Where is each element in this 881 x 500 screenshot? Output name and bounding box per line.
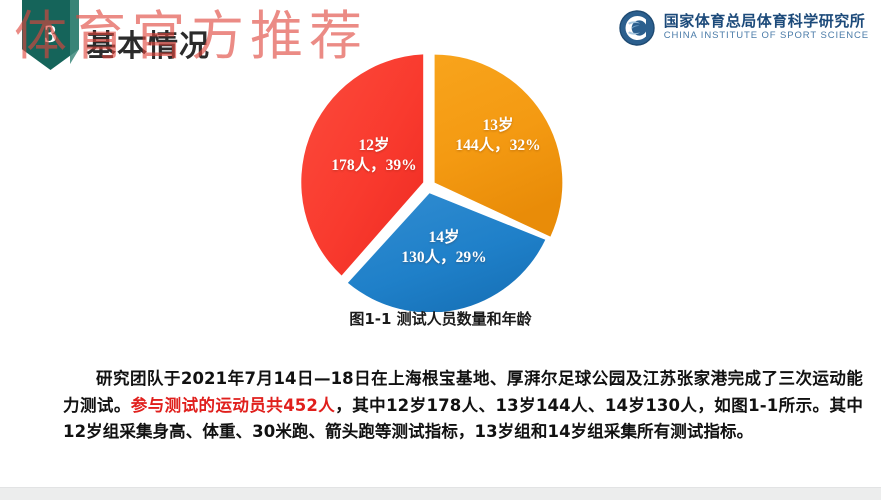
body-text-highlight: 参与测试的运动员共452人 xyxy=(131,396,336,415)
slide-canvas: 3 基本情况 体育官方推荐 国家体育总局体育科学研究所 CHINA INSTIT… xyxy=(0,0,881,500)
organization-name-cn: 国家体育总局体育科学研究所 xyxy=(664,13,869,30)
footer-band xyxy=(0,488,881,500)
figure-caption: 图1-1 测试人员数量和年龄 xyxy=(0,308,881,329)
organization-logo: 国家体育总局体育科学研究所 CHINA INSTITUTE OF SPORT S… xyxy=(619,10,869,46)
body-paragraph: 研究团队于2021年7月14日—18日在上海根宝基地、厚湃尔足球公园及江苏张家港… xyxy=(63,366,863,446)
section-number-label: 3 xyxy=(22,22,79,47)
organization-name-block: 国家体育总局体育科学研究所 CHINA INSTITUTE OF SPORT S… xyxy=(664,13,869,43)
organization-name-en: CHINA INSTITUTE OF SPORT SCIENCE xyxy=(664,30,869,42)
pie-chart: 12岁 178人，39% 13岁 144人，32% 14岁 130人，29% xyxy=(296,50,566,312)
sport-science-emblem-icon xyxy=(619,10,655,46)
page-title: 基本情况 xyxy=(86,21,210,65)
